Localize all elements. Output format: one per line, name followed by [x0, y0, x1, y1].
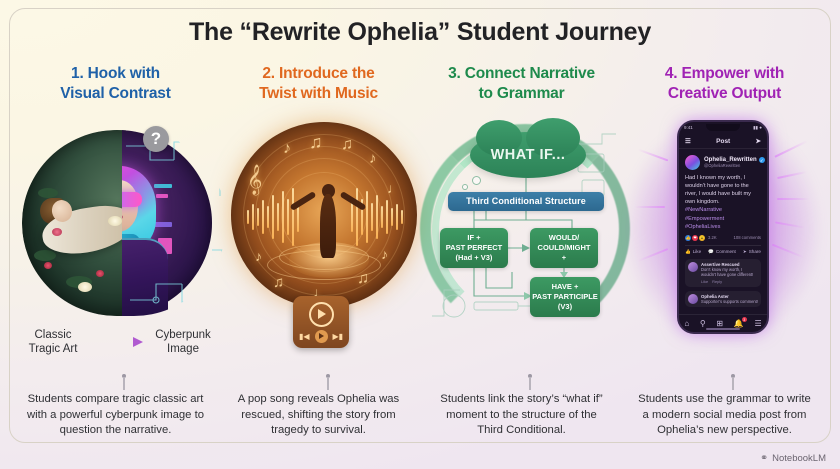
question-badge: ? — [143, 126, 169, 152]
post-handle: @OpheliaRewritten — [704, 163, 765, 168]
phone-notch — [706, 124, 740, 131]
avatar — [685, 155, 700, 170]
label-classic-line1: Classic — [20, 328, 86, 342]
panel-creative-output: 9:41 ▮▮ ● ☰ Post ➤ Ophelia_R — [623, 118, 826, 380]
like-button[interactable]: 👍 Like — [685, 249, 701, 255]
music-disc-graphic: 𝄞 ♪ ♫ ♫ ♪ ♩ ♪ ♫ ♫ ♪ ♩ ▮◀ — [225, 118, 421, 330]
phone-mockup: 9:41 ▮▮ ● ☰ Post ➤ Ophelia_R — [649, 114, 799, 346]
comment-count: 108 comments — [734, 235, 761, 240]
status-indicators: ▮▮ ● — [753, 125, 762, 131]
verified-badge-icon: ✓ — [759, 157, 765, 163]
heading-2-line-1: 2. Introduce the — [217, 64, 420, 84]
node-would-could-might: WOULD/ COULD/MIGHT + — [530, 228, 598, 268]
caption-3: Students link the story’s “what if” mome… — [420, 392, 623, 448]
column-heading-2: 2. Introduce the Twist with Music — [217, 64, 420, 110]
caption-stem — [123, 377, 124, 390]
column-heading-1: 1. Hook with Visual Contrast — [14, 64, 217, 110]
add-icon[interactable]: ⊞ — [716, 319, 723, 328]
node-third-conditional-structure: Third Conditional Structure — [448, 192, 604, 211]
share-icon[interactable]: ➤ — [756, 137, 761, 145]
caption-stem — [327, 377, 328, 390]
notebooklm-icon: ⚭ — [760, 453, 768, 464]
what-if-cloud: WHAT IF... — [470, 132, 586, 178]
column-heading-3: 3. Connect Narrative to Grammar — [420, 64, 623, 110]
heading-1-line-2: Visual Contrast — [14, 84, 217, 104]
what-if-label: WHAT IF... — [491, 147, 566, 163]
comment-text: Don’t know my worth, I wouldn’t have gon… — [701, 267, 758, 278]
label-cyber-line2: Image — [150, 342, 216, 356]
infographic-canvas: The “Rewrite Ophelia” Student Journey 1.… — [0, 0, 840, 469]
comment-item: Ophelia Aster Supporter’s supports comme… — [685, 291, 761, 308]
comment-text: Supporter’s supports comment! — [701, 299, 758, 305]
music-note-icon: ♪ — [255, 248, 262, 264]
search-icon[interactable]: ⚲ — [700, 319, 706, 328]
like-reaction-icon: 👍 — [685, 235, 691, 241]
post-reactions: 👍 ❤ 😮 3.2K 108 comments — [685, 235, 761, 241]
home-icon[interactable]: ⌂ — [684, 319, 689, 328]
music-note-icon: ♩ — [387, 180, 401, 196]
panel-visual-contrast: ? Classic Tragic Art — [14, 118, 217, 380]
bell-icon[interactable]: 🔔 3 — [734, 319, 744, 328]
panel-music-twist: 𝄞 ♪ ♫ ♫ ♪ ♩ ♪ ♫ ♫ ♪ ♩ ▮◀ — [217, 118, 420, 380]
transition-arrow-icon — [91, 335, 145, 349]
caption-stem — [529, 377, 530, 390]
heading-4-line-1: 4. Empower with — [623, 64, 826, 84]
notebooklm-watermark: ⚭ NotebookLM — [760, 453, 826, 464]
hashtag-3[interactable]: #OpheliaLives — [685, 223, 761, 231]
music-note-icon: ♪ — [283, 140, 291, 158]
label-cyber-line1: Cyberpunk — [150, 328, 216, 342]
node-if-past-perfect: IF + PAST PERFECT (Had + V3) — [440, 228, 508, 268]
music-note-icon: ♫ — [309, 132, 323, 153]
love-reaction-icon: ❤ — [692, 235, 698, 241]
classic-tragic-art-image — [22, 130, 126, 316]
hamburger-icon[interactable]: ☰ — [685, 137, 691, 145]
thought-bubble-large — [472, 176, 481, 185]
thought-bubble-small — [462, 184, 468, 190]
label-classic-line2: Tragic Art — [20, 342, 86, 356]
column-heading-4: 4. Empower with Creative Output — [623, 64, 826, 110]
circuit-pattern-icon — [122, 130, 226, 316]
reaction-count: 3.2K — [708, 235, 717, 240]
cyberpunk-image — [122, 130, 226, 316]
comment-avatar — [688, 294, 698, 304]
contrast-artwork: ? — [22, 122, 212, 322]
post-text: Had I known my worth, I wouldn’t have go… — [685, 174, 761, 231]
caption-stem — [732, 377, 733, 390]
heading-3-line-1: 3. Connect Narrative — [420, 64, 623, 84]
music-note-icon: ♫ — [341, 136, 353, 154]
comment-button[interactable]: 💬 Comment — [708, 249, 736, 255]
node-have-past-participle: HAVE + PAST PARTICIPLE (V3) — [530, 277, 600, 317]
ornate-frame — [22, 130, 126, 316]
music-note-icon: 𝄞 — [247, 164, 262, 196]
app-top-bar: ☰ Post ➤ — [679, 134, 767, 149]
play-small-icon[interactable] — [315, 330, 328, 343]
comment-reply-link[interactable]: Reply — [712, 279, 722, 284]
label-classic-tragic-art: Classic Tragic Art — [20, 328, 86, 357]
hashtag-1[interactable]: #NewNarrative — [685, 206, 761, 214]
hashtag-2[interactable]: #Empowerment — [685, 215, 761, 223]
share-button[interactable]: ➤ Share — [743, 249, 761, 255]
page-title: The “Rewrite Ophelia” Student Journey — [0, 18, 840, 47]
vinyl-disc: 𝄞 ♪ ♫ ♫ ♪ ♩ ♪ ♫ ♫ ♪ ♩ — [231, 122, 417, 308]
music-note-icon: ♪ — [369, 150, 377, 167]
heading-4-line-2: Creative Output — [623, 84, 826, 104]
heading-1-line-1: 1. Hook with — [14, 64, 217, 84]
panel-grammar-connection: WHAT IF... Third Conditional Structure I… — [420, 118, 623, 380]
wow-reaction-icon: 😮 — [699, 235, 705, 241]
music-note-icon: ♫ — [273, 274, 284, 291]
player-controls[interactable]: ▮◀ ▶▮ — [299, 330, 343, 343]
phone-screen[interactable]: 9:41 ▮▮ ● ☰ Post ➤ Ophelia_R — [677, 120, 769, 334]
third-conditional-diagram: WHAT IF... Third Conditional Structure I… — [426, 120, 626, 338]
post-author: Ophelia_Rewritten ✓ @OpheliaRewritten — [685, 155, 761, 170]
post-body-text: Had I known my worth, I wouldn’t have go… — [685, 175, 751, 205]
panels-row: ? Classic Tragic Art — [14, 118, 826, 380]
post-action-bar: 👍 Like 💬 Comment ➤ Share — [685, 245, 761, 255]
caption-2: A pop song reveals Ophelia was rescued, … — [217, 392, 420, 448]
comment-avatar — [688, 262, 698, 272]
label-cyberpunk-image: Cyberpunk Image — [150, 328, 216, 357]
notification-badge: 3 — [742, 317, 747, 322]
post-feed: Ophelia_Rewritten ✓ @OpheliaRewritten Ha… — [679, 150, 767, 314]
watermark-label: NotebookLM — [772, 453, 826, 464]
home-indicator — [706, 328, 740, 330]
music-note-icon: ♪ — [381, 246, 388, 262]
contrast-labels: Classic Tragic Art Cyberpunk Image — [20, 328, 216, 357]
caption-1: Students compare tragic classic art with… — [14, 392, 217, 448]
caption-4: Students use the grammar to write a mode… — [623, 392, 826, 448]
heading-2-line-2: Twist with Music — [217, 84, 420, 104]
captions-row: Students compare tragic classic art with… — [14, 392, 826, 448]
comment-item: Assertive Rescued Don’t know my worth, I… — [685, 259, 761, 287]
appbar-title: Post — [716, 138, 730, 145]
music-note-icon: ♫ — [357, 270, 369, 288]
music-player-widget[interactable]: ▮◀ ▶▮ — [293, 296, 349, 348]
play-button[interactable] — [309, 302, 334, 327]
heading-3-line-2: to Grammar — [420, 84, 623, 104]
status-time: 9:41 — [684, 125, 693, 130]
column-headings: 1. Hook with Visual Contrast 2. Introduc… — [14, 64, 826, 110]
comment-like-link[interactable]: Like — [701, 279, 708, 284]
dancer-silhouette — [307, 178, 349, 260]
menu-icon[interactable]: ☰ — [754, 319, 761, 328]
next-icon[interactable]: ▶▮ — [333, 332, 344, 341]
previous-icon[interactable]: ▮◀ — [299, 332, 310, 341]
